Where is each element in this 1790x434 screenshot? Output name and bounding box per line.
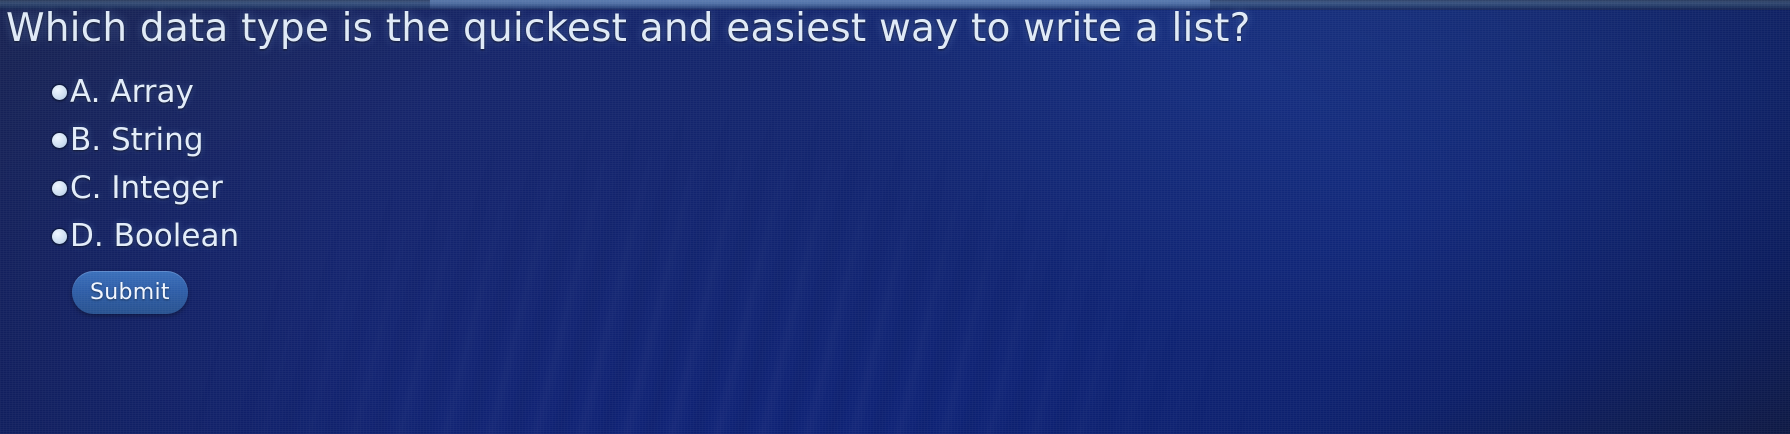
option-b[interactable]: B. String xyxy=(52,116,239,164)
submit-button-container: Submit xyxy=(72,271,188,314)
answer-options-list: A. Array B. String C. Integer D. Boolean xyxy=(52,68,239,260)
submit-button[interactable]: Submit xyxy=(72,271,188,314)
radio-bullet-icon[interactable] xyxy=(52,85,67,100)
option-b-label: B. String xyxy=(70,125,204,156)
quiz-screen: Which data type is the quickest and easi… xyxy=(0,0,1790,434)
option-d[interactable]: D. Boolean xyxy=(52,212,239,260)
option-d-label: D. Boolean xyxy=(70,221,239,252)
quiz-content: Which data type is the quickest and easi… xyxy=(0,0,1790,434)
radio-bullet-icon[interactable] xyxy=(52,181,67,196)
question-text: Which data type is the quickest and easi… xyxy=(6,8,1251,51)
option-c[interactable]: C. Integer xyxy=(52,164,239,212)
radio-bullet-icon[interactable] xyxy=(52,229,67,244)
option-a-label: A. Array xyxy=(70,77,194,108)
option-a[interactable]: A. Array xyxy=(52,68,239,116)
option-c-label: C. Integer xyxy=(70,173,223,204)
radio-bullet-icon[interactable] xyxy=(52,133,67,148)
